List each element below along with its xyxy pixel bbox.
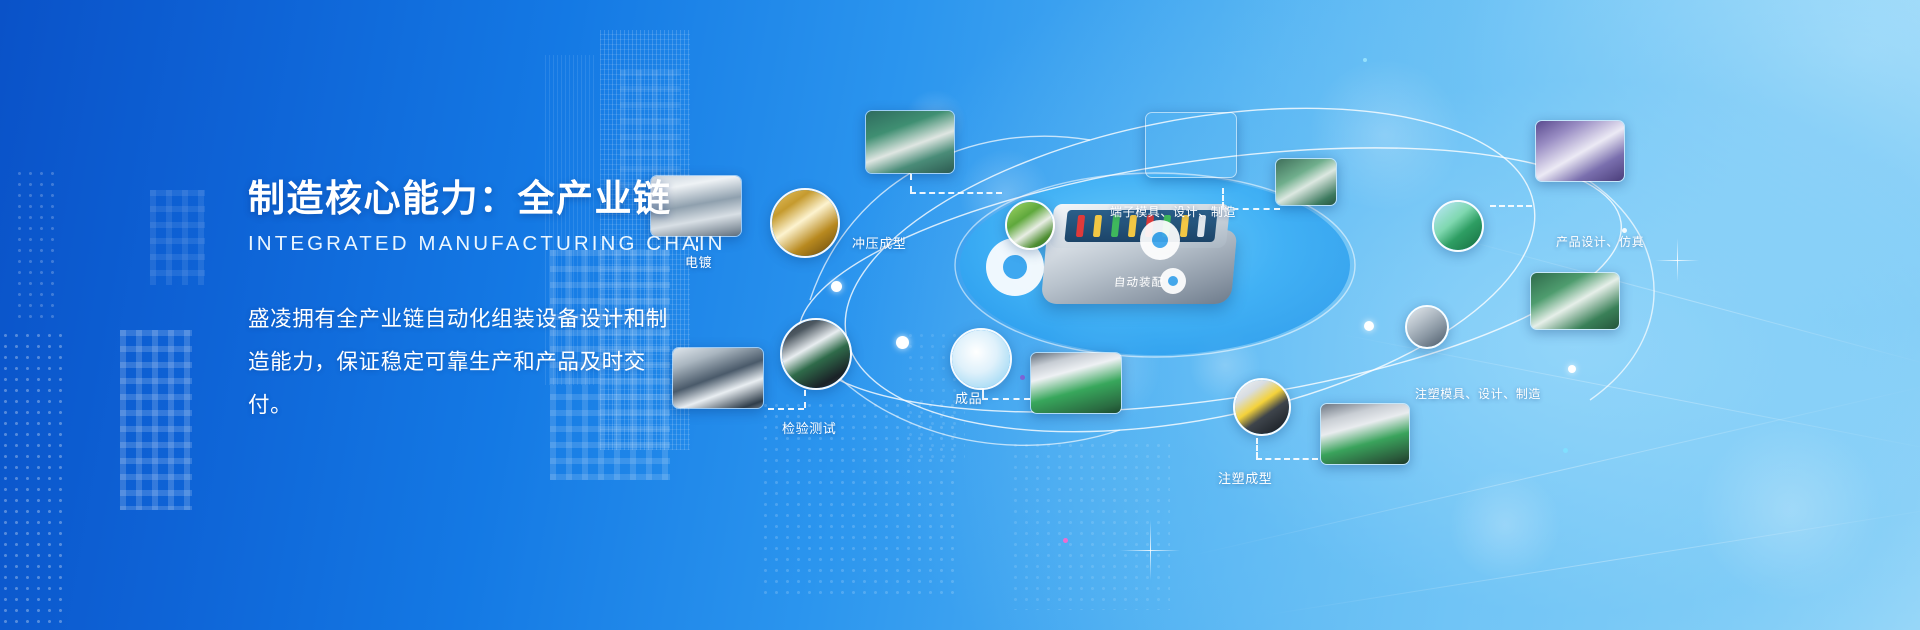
leader-line <box>768 408 804 410</box>
node-stamping-detail[interactable] <box>1005 200 1055 250</box>
label-terminal-mold: 端子模具、设计、制造 <box>1110 203 1236 220</box>
node-image <box>952 330 1010 388</box>
node-injection-forming[interactable] <box>1233 378 1291 436</box>
square-pattern-column <box>150 190 205 285</box>
page-subtitle: INTEGRATED MANUFACTURING CHAIN <box>248 232 718 256</box>
leader-line <box>1490 205 1532 207</box>
photo-injection-line[interactable] <box>1320 403 1410 465</box>
page-body-text: 盛凌拥有全产业链自动化组装设备设计和制造能力，保证稳定可靠生产和产品及时交付。 <box>248 298 688 427</box>
gear-icon <box>1140 220 1180 260</box>
photo-product-design-lab[interactable] <box>1535 120 1625 182</box>
orbit-connector-dot <box>896 336 909 349</box>
orbit-connector-dot <box>1364 321 1374 331</box>
photo-image <box>1276 159 1336 205</box>
node-image <box>1407 307 1447 347</box>
photo-image <box>1146 113 1236 177</box>
label-stamping: 冲压成型 <box>852 233 906 252</box>
photo-image <box>866 111 954 173</box>
label-inspection-test: 检验测试 <box>782 418 836 437</box>
label-injection-forming: 注塑成型 <box>1218 468 1272 487</box>
node-image <box>772 190 838 256</box>
dot-pattern-left <box>14 168 59 318</box>
orbit-connector-dot <box>1568 365 1576 373</box>
dot-pattern-left <box>0 330 70 630</box>
photo-image <box>1531 273 1619 329</box>
photo-terminal-mold-part[interactable] <box>1275 158 1337 206</box>
machine-label: 自动装配 <box>1113 274 1164 290</box>
node-image <box>1235 380 1289 434</box>
label-injection-mold: 注塑模具、设计、制造 <box>1415 385 1541 402</box>
label-finished-goods: 成品 <box>955 388 982 407</box>
leader-line <box>982 398 1030 400</box>
node-injection-mold-part[interactable] <box>1405 305 1449 349</box>
node-image <box>1007 202 1053 248</box>
photo-image <box>1536 121 1624 181</box>
node-plating[interactable] <box>770 188 840 258</box>
node-product-design[interactable] <box>1432 200 1484 252</box>
banner-text-block: 制造核心能力：全产业链 INTEGRATED MANUFACTURING CHA… <box>248 178 718 427</box>
manufacturing-chain-diagram: 自动装配 冲压成型 端子模具、设计、制造 <box>790 0 1920 630</box>
photo-image <box>1031 353 1121 413</box>
leader-line <box>910 192 1002 194</box>
leader-line <box>1256 438 1258 458</box>
leader-line <box>804 390 806 408</box>
photo-stamping-machine[interactable] <box>865 110 955 174</box>
cavity-pin <box>1093 215 1102 237</box>
leader-line <box>1256 458 1318 460</box>
gear-icon <box>1160 268 1186 294</box>
node-inspection-test[interactable] <box>780 318 852 390</box>
photo-terminal-mold-shop[interactable] <box>1145 112 1237 178</box>
square-pattern-column <box>620 70 680 190</box>
photo-assembly-line[interactable] <box>1030 352 1122 414</box>
node-finished-goods[interactable] <box>950 328 1012 390</box>
square-pattern-column <box>120 330 192 510</box>
photo-image <box>1321 404 1409 464</box>
leader-line <box>910 174 912 192</box>
leader-line <box>982 388 984 398</box>
orbit-paths <box>790 0 1920 630</box>
manufacturing-capability-banner: 制造核心能力：全产业链 INTEGRATED MANUFACTURING CHA… <box>0 0 1920 630</box>
orbit-connector-dot <box>831 281 842 292</box>
node-image <box>782 320 850 388</box>
photo-injection-mold-shop[interactable] <box>1530 272 1620 330</box>
label-product-design: 产品设计、仿真 <box>1556 233 1644 250</box>
page-title: 制造核心能力：全产业链 <box>248 178 718 221</box>
node-image <box>1434 202 1482 250</box>
cavity-pin <box>1076 215 1085 237</box>
